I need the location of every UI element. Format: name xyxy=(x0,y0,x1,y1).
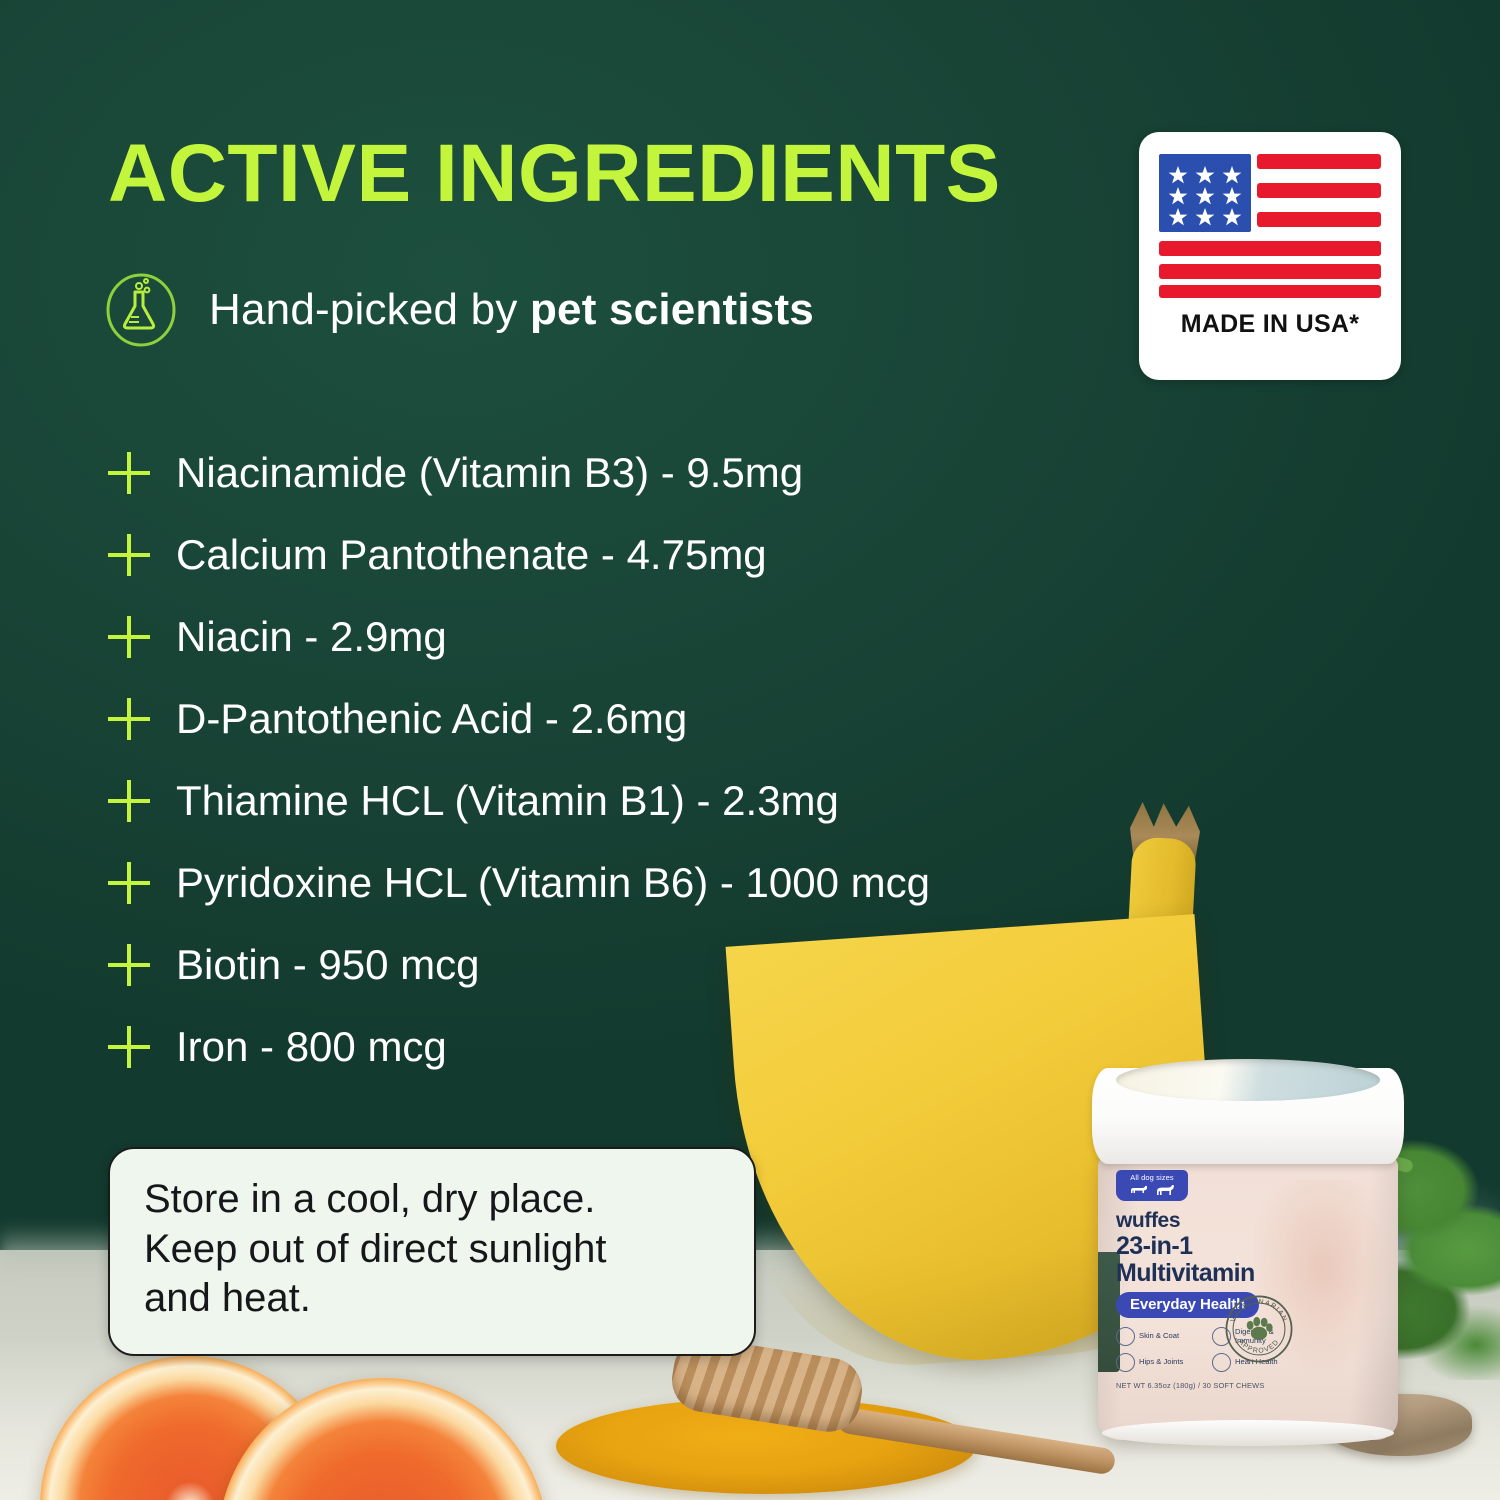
brand-name: wuffes xyxy=(1116,1209,1306,1233)
net-weight-text: NET WT 6.35oz (180g) / 30 SOFT CHEWS xyxy=(1116,1381,1306,1390)
product-infographic: All dog sizes wuffes 23-in-1 Multivitami… xyxy=(0,0,1500,1500)
list-item: Thiamine HCL (Vitamin B1) - 2.3mg xyxy=(108,760,1108,842)
subtitle: Hand-picked by pet scientists xyxy=(209,285,814,335)
benefit-label: Hips & Joints xyxy=(1139,1358,1183,1367)
made-in-usa-label: MADE IN USA* xyxy=(1181,310,1360,339)
subtitle-row: Hand-picked by pet scientists xyxy=(103,272,814,348)
ingredient-text: Niacin - 2.9mg xyxy=(176,613,447,661)
product-jar[interactable]: All dog sizes wuffes 23-in-1 Multivitami… xyxy=(1092,1068,1404,1440)
benefit-item: Hips & Joints xyxy=(1116,1353,1210,1372)
usa-flag-icon xyxy=(1159,150,1381,300)
ingredient-text: D-Pantothenic Acid - 2.6mg xyxy=(176,695,687,743)
storage-callout: Store in a cool, dry place. Keep out of … xyxy=(108,1147,756,1356)
plus-icon xyxy=(108,862,150,904)
ingredient-text: Iron - 800 mcg xyxy=(176,1023,447,1071)
product-name-line2: Multivitamin xyxy=(1116,1261,1306,1287)
hips-joints-icon xyxy=(1116,1353,1135,1372)
jar-base xyxy=(1102,1420,1394,1446)
veterinarian-approved-seal: VETERINARIAN APPROVED xyxy=(1222,1292,1296,1366)
page-title: ACTIVE INGREDIENTS xyxy=(108,133,1001,215)
plus-icon xyxy=(108,534,150,576)
subtitle-prefix: Hand-picked by xyxy=(209,285,530,334)
list-item: Iron - 800 mcg xyxy=(108,1006,1108,1088)
plus-icon xyxy=(108,780,150,822)
benefit-item: Skin & Coat xyxy=(1116,1327,1210,1346)
ingredient-text: Calcium Pantothenate - 4.75mg xyxy=(176,531,767,579)
list-item: Biotin - 950 mcg xyxy=(108,924,1108,1006)
small-dog-icon xyxy=(1129,1184,1149,1195)
plus-icon xyxy=(108,452,150,494)
all-dog-sizes-badge: All dog sizes xyxy=(1116,1170,1188,1201)
plus-icon xyxy=(108,616,150,658)
all-dog-sizes-label: All dog sizes xyxy=(1121,1173,1183,1182)
list-item: Calcium Pantothenate - 4.75mg xyxy=(108,514,1108,596)
jar-lid-top xyxy=(1116,1059,1380,1101)
plus-icon xyxy=(108,698,150,740)
ingredient-text: Niacinamide (Vitamin B3) - 9.5mg xyxy=(176,449,803,497)
storage-line-3: and heat. xyxy=(144,1274,720,1324)
list-item: Niacin - 2.9mg xyxy=(108,596,1108,678)
list-item: Pyridoxine HCL (Vitamin B6) - 1000 mcg xyxy=(108,842,1108,924)
subtitle-emphasis: pet scientists xyxy=(530,285,814,334)
ingredient-text: Thiamine HCL (Vitamin B1) - 2.3mg xyxy=(176,777,839,825)
plus-icon xyxy=(108,1026,150,1068)
ingredients-list: Niacinamide (Vitamin B3) - 9.5mg Calcium… xyxy=(108,432,1108,1088)
jar-body: All dog sizes wuffes 23-in-1 Multivitami… xyxy=(1098,1156,1398,1440)
paw-print-icon xyxy=(1247,1317,1273,1340)
skin-coat-icon xyxy=(1116,1327,1135,1346)
flask-icon xyxy=(103,272,179,348)
large-dog-icon xyxy=(1154,1184,1176,1197)
product-name-line1: 23-in-1 xyxy=(1116,1234,1306,1260)
plus-icon xyxy=(108,944,150,986)
list-item: D-Pantothenic Acid - 2.6mg xyxy=(108,678,1108,760)
made-in-usa-badge: MADE IN USA* xyxy=(1139,132,1401,380)
ingredient-text: Pyridoxine HCL (Vitamin B6) - 1000 mcg xyxy=(176,859,930,907)
jar-lid[interactable] xyxy=(1092,1068,1404,1164)
list-item: Niacinamide (Vitamin B3) - 9.5mg xyxy=(108,432,1108,514)
storage-line-1: Store in a cool, dry place. xyxy=(144,1175,720,1225)
storage-line-2: Keep out of direct sunlight xyxy=(144,1225,720,1275)
benefit-label: Skin & Coat xyxy=(1139,1332,1179,1341)
svg-text:APPROVED: APPROVED xyxy=(1237,1338,1281,1354)
ingredient-text: Biotin - 950 mcg xyxy=(176,941,479,989)
